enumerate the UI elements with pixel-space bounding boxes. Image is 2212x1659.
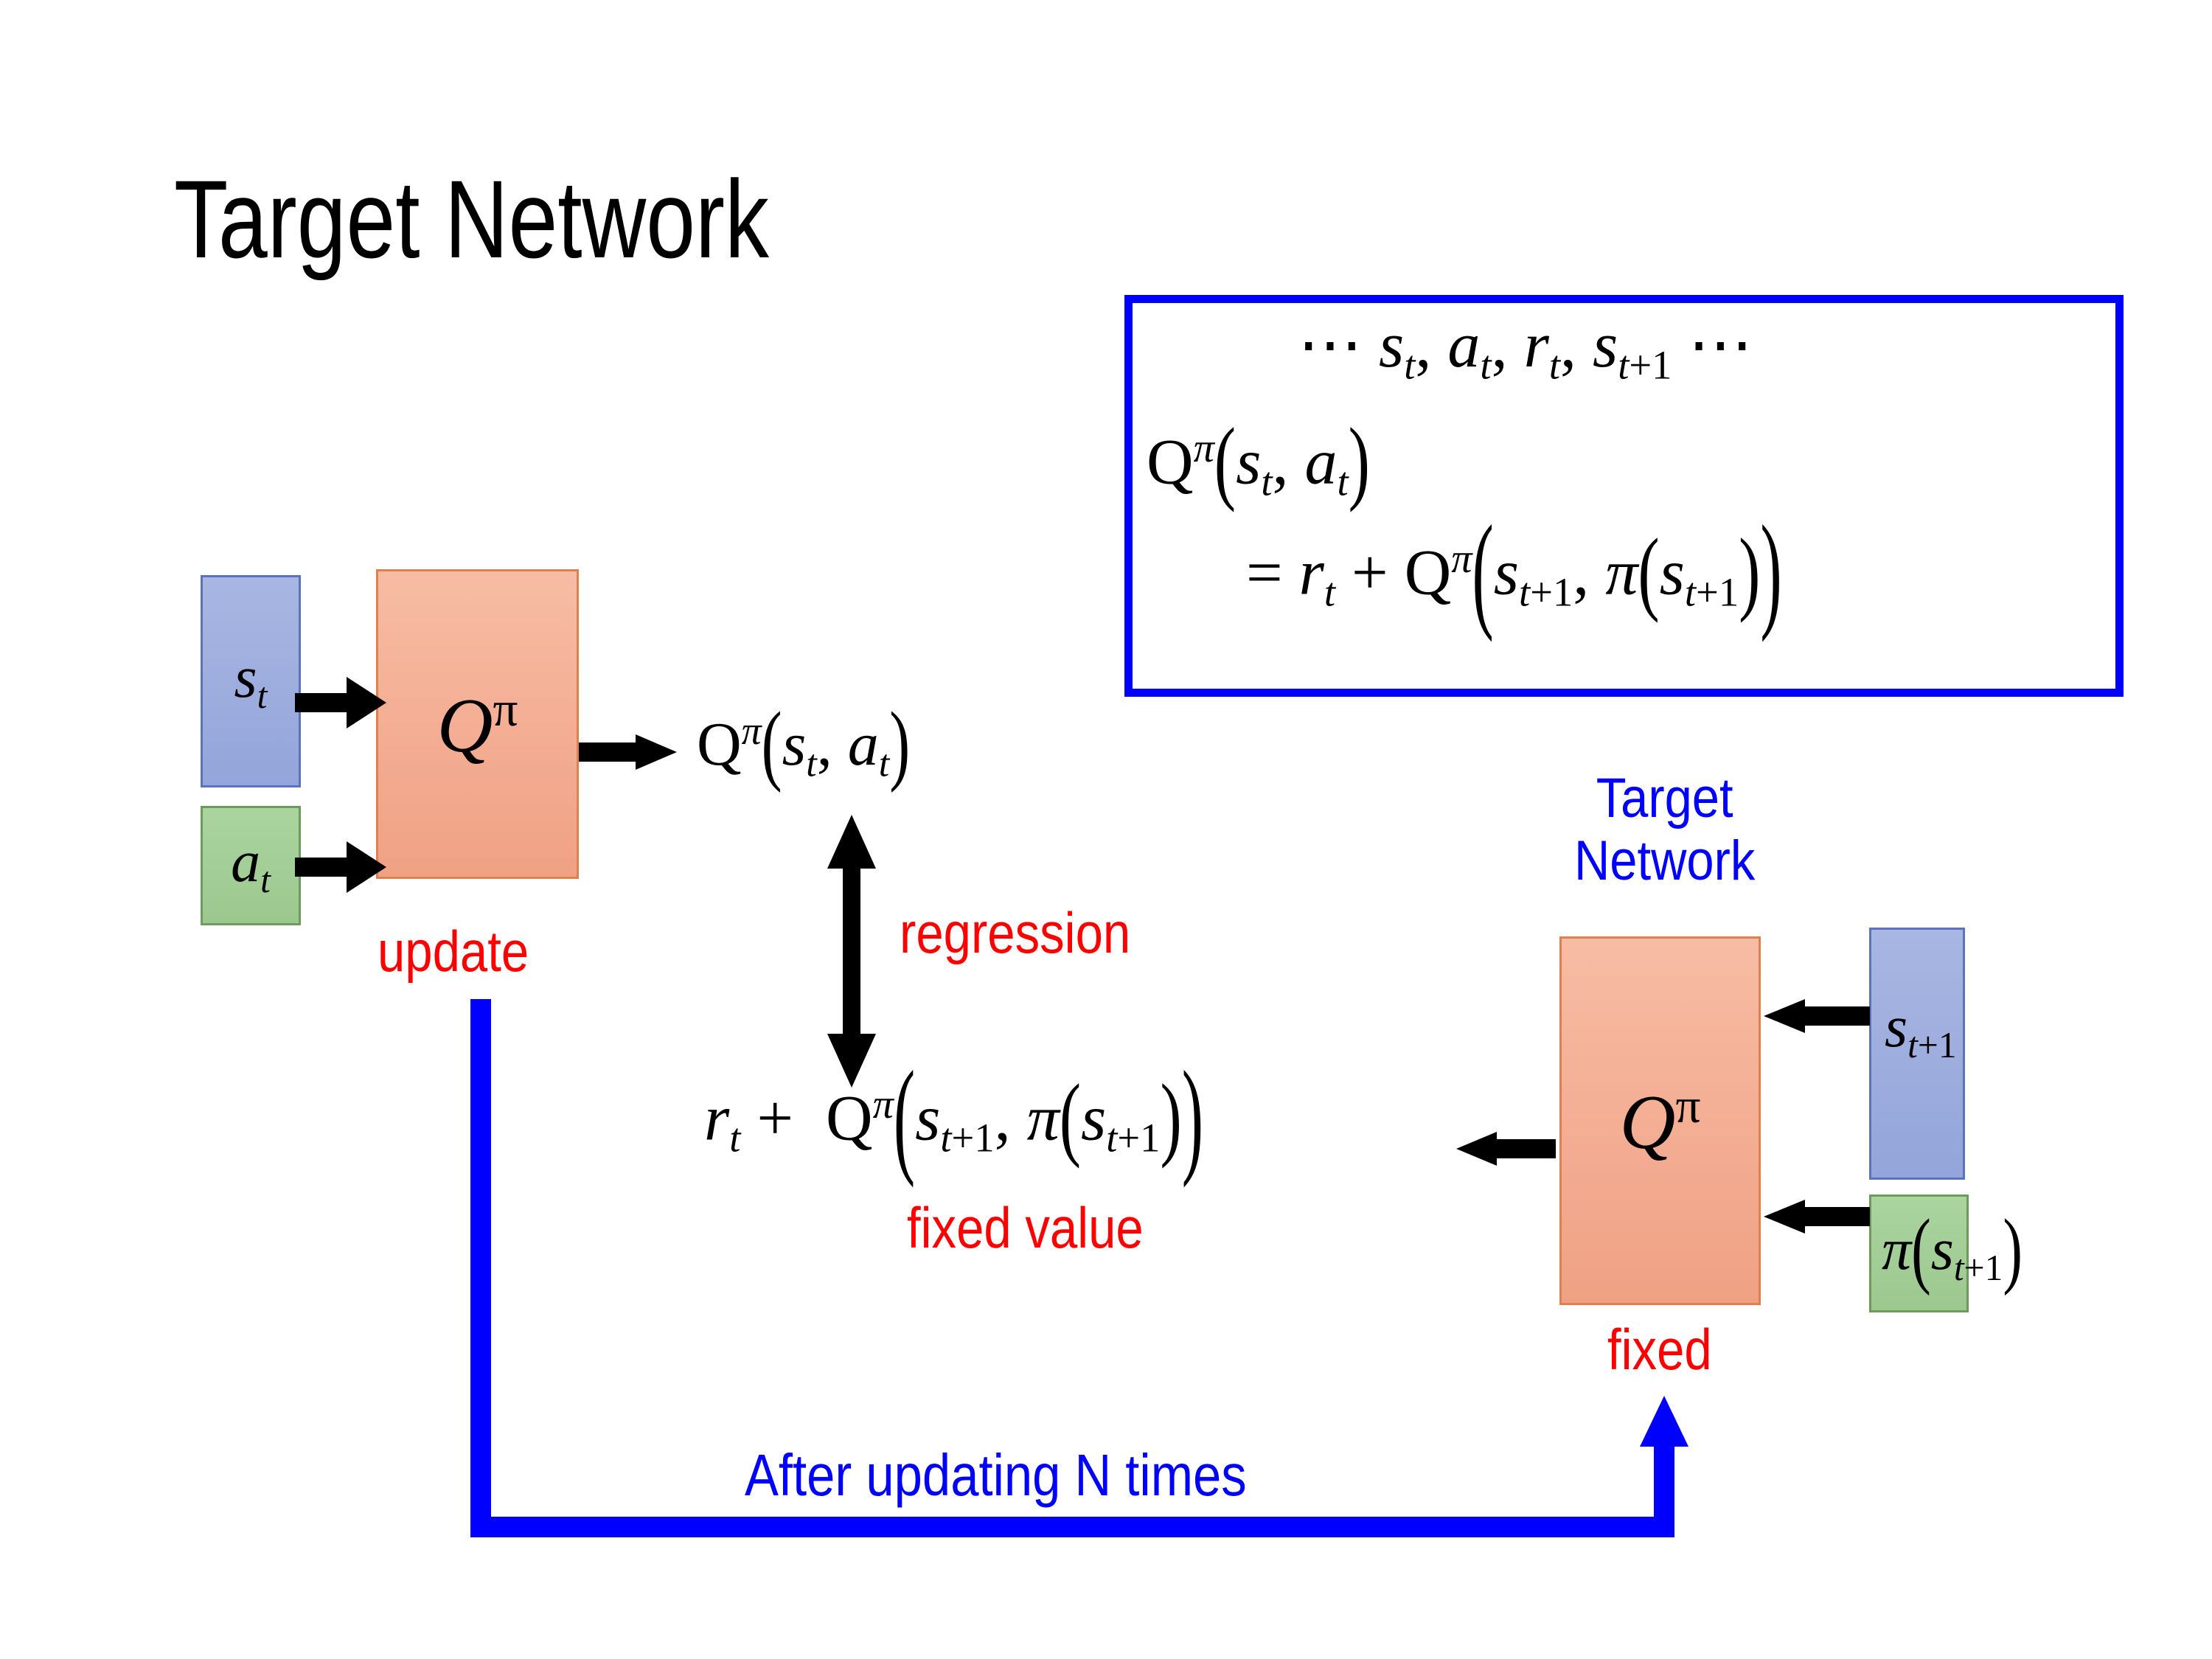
arrow-q-to-output: [579, 734, 677, 770]
arrow-layer: [0, 0, 2212, 1659]
arrow-regression-double: [827, 815, 876, 1088]
arrow-targetq-to-value: [1456, 1132, 1556, 1166]
arrow-feedback-loop: [470, 999, 1688, 1537]
arrow-state-to-q: [295, 677, 386, 728]
arrow-action-to-q: [295, 841, 386, 893]
arrow-targetstate-to-q: [1764, 999, 1870, 1033]
slide-canvas: Target Network ⋯ st, at, rt, st+1 ⋯ Qπ(s…: [0, 0, 2212, 1659]
arrow-targetaction-to-q: [1764, 1200, 1870, 1234]
